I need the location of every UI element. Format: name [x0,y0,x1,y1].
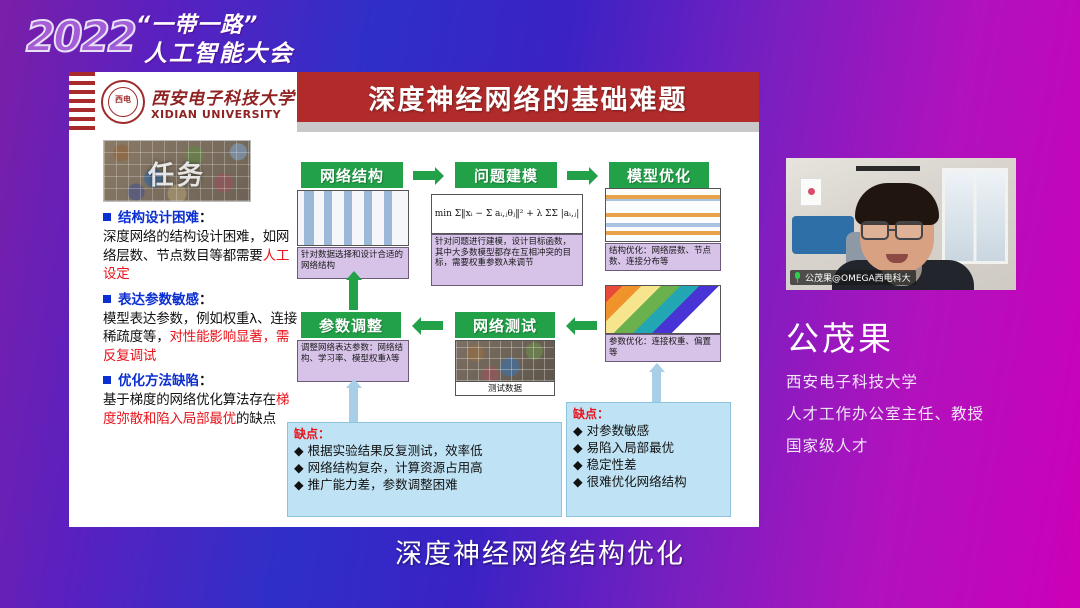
video-name-badge: 公茂果@OMEGA西电科大 [790,270,916,285]
drawbacks-right-item-3-text: 稳定性差 [587,457,637,472]
bullet-1-body: 深度网络的结构设计困难，如网络层数、节点数目等都需要人工设定 [103,228,299,284]
speaker-name: 公茂果 [786,312,1066,360]
flow-arrow-up-network-structure [349,280,358,310]
bullet-2-heading: 表达参数敏感： [103,291,299,310]
test-data-label: 测试数据 [455,382,555,396]
speaker-glasses-bridge [889,229,895,231]
desc-problem-modeling: 针对问题进行建模，设计目标函数，其中大多数模型都存在互相冲突的目标，需要权重参数… [431,234,583,286]
bullet-3-heading-text: 优化方法缺陷 [118,373,199,389]
drawbacks-right-title: 缺点： [573,407,724,422]
bullet-square-icon [103,213,111,221]
flow-arrow-right-1 [413,171,435,180]
bullet-2-colon: ： [199,292,213,308]
task-image-label: 任务 [104,155,250,192]
drawbacks-right-item-4-text: 很难优化网络结构 [587,474,687,489]
slide-title-underbar [297,122,759,132]
bullet-1-heading-text: 结构设计困难 [118,210,199,226]
slide-title: 深度神经网络的基础难题 [369,78,688,117]
broadcast-caption: 深度神经网络结构优化 [0,532,1080,571]
room-wall-art [800,178,822,206]
bullet-1-colon: ： [199,210,213,226]
test-data-image [455,340,555,382]
speaker-affiliation: 西安电子科技大学 [786,370,1066,392]
drawbacks-right-item-2-text: 易陷入局部最优 [587,440,675,455]
drawbacks-left-panel: 缺点： ◆根据实验结果反复测试，效率低 ◆网络结构复杂，计算资源占用高 ◆推广能… [287,422,562,517]
task-image-collage: 任务 [103,140,251,202]
structure-optimization-diagram [605,188,721,242]
flow-stage-network-structure: 网络结构 [301,162,403,188]
diamond-icon: ◆ [573,474,583,489]
speaker-honor: 国家级人才 [786,434,1066,456]
drawbacks-right-item-3: ◆稳定性差 [573,456,724,473]
speaker-role: 人才工作办公室主任、教授 [786,402,1066,424]
diamond-icon: ◆ [294,477,304,492]
drawbacks-left-item-3-text: 推广能力差，参数调整困难 [308,477,458,492]
slide-title-bar: 深度神经网络的基础难题 [297,72,759,122]
bullet-3-body: 基于梯度的网络优化算法存在梯度弥散和陷入局部最优的缺点 [103,391,299,428]
flow-stage-model-optimization-label: 模型优化 [627,165,691,186]
drawbacks-right-item-2: ◆易陷入局部最优 [573,439,724,456]
drawbacks-right-panel: 缺点： ◆对参数敏感 ◆易陷入局部最优 ◆稳定性差 ◆很难优化网络结构 [566,402,731,517]
drawbacks-right-item-1-text: 对参数敏感 [587,423,650,438]
university-seal-icon: 西电 [101,80,145,124]
desc-structure-optimization: 结构优化：网络层数、节点数、连接分布等 [605,243,721,271]
bullet-block-1: 结构设计困难： 深度网络的结构设计困难，如网络层数、节点数目等都需要人工设定 [103,209,299,284]
flow-stage-network-test-label: 网络测试 [473,315,537,336]
drawbacks-right-item-4: ◆很难优化网络结构 [573,473,724,490]
flow-stage-model-optimization: 模型优化 [609,162,709,188]
slide-header: 西电 西安电子科技大学 XIDIAN UNIVERSITY 深度神经网络的基础难… [69,72,759,134]
bullet-3-heading: 优化方法缺陷： [103,372,299,391]
diamond-icon: ◆ [573,440,583,455]
bullet-2-body: 模型表达参数，例如权重λ、连接稀疏度等，对性能影响显著，需反复调试 [103,310,299,366]
bullet-square-icon [103,376,111,384]
flow-stage-problem-modeling: 问题建模 [455,162,557,188]
drawbacks-left-item-2: ◆网络结构复杂，计算资源占用高 [294,459,555,476]
room-wall-strip [856,166,920,171]
drawbacks-left-item-1-text: 根据实验结果反复测试，效率低 [308,443,483,458]
university-seal-text: 西电 [103,95,143,104]
diamond-icon: ◆ [294,443,304,458]
video-name-label: 公茂果@OMEGA西电科大 [805,271,911,284]
desc-parameter-adjust: 调整网络表达参数：网络结构、学习率、模型权重λ等 [297,340,409,382]
flow-stage-parameter-adjust-label: 参数调整 [319,315,383,336]
speaker-hair [855,183,939,225]
diamond-icon: ◆ [294,460,304,475]
microphone-icon [793,272,801,283]
bullet-block-2: 表达参数敏感： 模型表达参数，例如权重λ、连接稀疏度等，对性能影响显著，需反复调… [103,291,299,366]
event-branding: 2022 “一带一路” 人工智能大会 [26,4,336,66]
bullet-square-icon [103,295,111,303]
desc-parameter-optimization: 参数优化：连接权重、偏置等 [605,334,721,362]
flow-stage-problem-modeling-label: 问题建模 [474,165,538,186]
speaker-panel: 公茂果@OMEGA西电科大 公茂果 西安电子科技大学 人才工作办公室主任、教授 … [786,158,1066,456]
presentation-slide: 西电 西安电子科技大学 XIDIAN UNIVERSITY 深度神经网络的基础难… [69,72,759,527]
drawbacks-left-item-2-text: 网络结构复杂，计算资源占用高 [308,460,483,475]
broadcast-stage: 2022 “一带一路” 人工智能大会 西电 西安电子科技大学 XIDIAN UN… [0,0,1080,608]
bullet-3-body-pre: 基于梯度的网络优化算法存在 [103,392,276,408]
flow-stage-network-test: 网络测试 [455,312,555,338]
bullet-3-colon: ： [199,373,213,389]
flow-arrow-left-2 [575,321,597,330]
bullet-block-3: 优化方法缺陷： 基于梯度的网络优化算法存在梯度弥散和陷入局部最优的缺点 [103,372,299,428]
speaker-video-feed[interactable]: 公茂果@OMEGA西电科大 [786,158,1016,290]
flow-arrow-right-2 [567,171,589,180]
university-logo: 西电 西安电子科技大学 XIDIAN UNIVERSITY [99,78,294,130]
speaker-glasses-left [861,221,889,240]
bullet-3-body-post: 的缺点 [236,411,276,427]
drawbacks-right-item-1: ◆对参数敏感 [573,422,724,439]
diamond-icon: ◆ [573,423,583,438]
parameter-optimization-diagram [605,285,721,334]
bullet-1-body-pre: 深度网络的结构设计困难，如网络层数、节点数目等都需要 [103,229,289,264]
bullet-1-heading: 结构设计困难： [103,209,299,228]
slide-left-column: 任务 结构设计困难： 深度网络的结构设计困难，如网络层数、节点数目等都需要人工设… [103,140,299,428]
flow-stage-parameter-adjust: 参数调整 [301,312,401,338]
drawbacks-left-title: 缺点： [294,427,555,442]
flow-arrow-left-1 [421,321,443,330]
event-slogan-line2: 人工智能大会 [144,34,294,68]
bullet-2-heading-text: 表达参数敏感 [118,292,199,308]
drawbacks-left-item-1: ◆根据实验结果反复测试，效率低 [294,442,555,459]
drawbacks-left-item-3: ◆推广能力差，参数调整困难 [294,476,555,493]
objective-function-formula: min Σ‖xᵢ − Σ aᵢ,ⱼθⱼ‖² + λ ΣΣ |aᵢ,ⱼ| [431,194,583,234]
university-name-en: XIDIAN UNIVERSITY [151,108,281,121]
speaker-glasses-right [895,221,923,240]
network-architecture-diagram [297,190,409,246]
diamond-icon: ◆ [573,457,583,472]
university-name-cn: 西安电子科技大学 [151,84,295,109]
event-year: 2022 [26,12,135,61]
flow-stage-network-structure-label: 网络结构 [320,165,384,186]
